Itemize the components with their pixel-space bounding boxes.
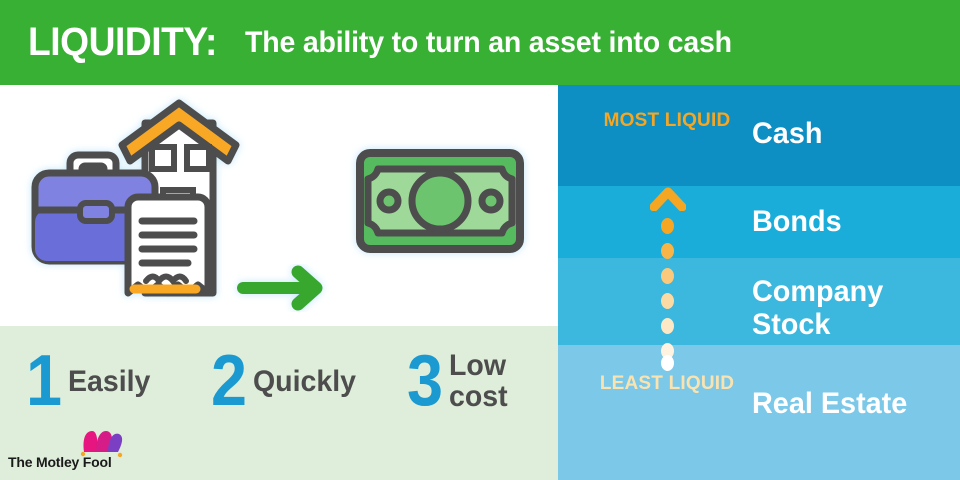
- ladder-dot: [661, 318, 674, 334]
- up-chevron-icon: [650, 185, 686, 211]
- step-number: 3: [407, 348, 443, 414]
- step-number: 2: [211, 348, 247, 414]
- motley-fool-logo: The Motley Fool: [8, 432, 158, 474]
- step-number: 1: [26, 348, 62, 414]
- least-liquid-label: LEAST LIQUID: [597, 373, 737, 395]
- ladder-row-cash[interactable]: Cash: [558, 85, 960, 186]
- right-arrow-icon: [243, 272, 316, 304]
- ladder-dot: [661, 293, 674, 309]
- ladder-row-label: Real Estate: [752, 387, 907, 420]
- ladder-dot: [661, 268, 674, 284]
- steps-list: 1 Easily 2 Quickly 3 Low cost: [0, 336, 558, 426]
- most-liquid-label: MOST LIQUID: [597, 110, 737, 132]
- ladder-row-label: Bonds: [752, 205, 842, 238]
- step-label: Low cost: [449, 350, 531, 412]
- ladder-dot: [661, 355, 674, 371]
- assets-group: [35, 103, 236, 293]
- step-label: Easily: [68, 366, 150, 397]
- ladder-row-real-estate[interactable]: Real Estate: [558, 345, 960, 480]
- header-keyword: LIQUIDITY:: [28, 20, 217, 65]
- ladder-dot: [661, 218, 674, 234]
- banknote-icon: [360, 153, 520, 249]
- ladder-row-label: Cash: [752, 117, 822, 150]
- logo-wordmark: The Motley Fool: [8, 454, 112, 470]
- step-item-1: 1 Easily: [24, 348, 155, 414]
- step-label: Quickly: [253, 366, 356, 397]
- header-banner: LIQUIDITY: The ability to turn an asset …: [0, 0, 960, 85]
- ladder-row-company-stock[interactable]: Company Stock: [558, 258, 960, 345]
- liquidity-illustration: [0, 85, 558, 326]
- ladder-row-label: Company Stock: [752, 275, 915, 341]
- ladder-dot: [661, 243, 674, 259]
- liquidity-ladder: Cash Bonds Company Stock Real Estate MOS…: [558, 85, 960, 480]
- ladder-row-bonds[interactable]: Bonds: [558, 186, 960, 258]
- document-icon: [128, 197, 208, 293]
- header-text-group: LIQUIDITY: The ability to turn an asset …: [28, 0, 758, 85]
- step-item-2: 2 Quickly: [209, 348, 361, 414]
- header-subtitle: The ability to turn an asset into cash: [245, 26, 732, 60]
- infographic-canvas: LIQUIDITY: The ability to turn an asset …: [0, 0, 960, 480]
- step-item-3: 3 Low cost: [405, 348, 535, 414]
